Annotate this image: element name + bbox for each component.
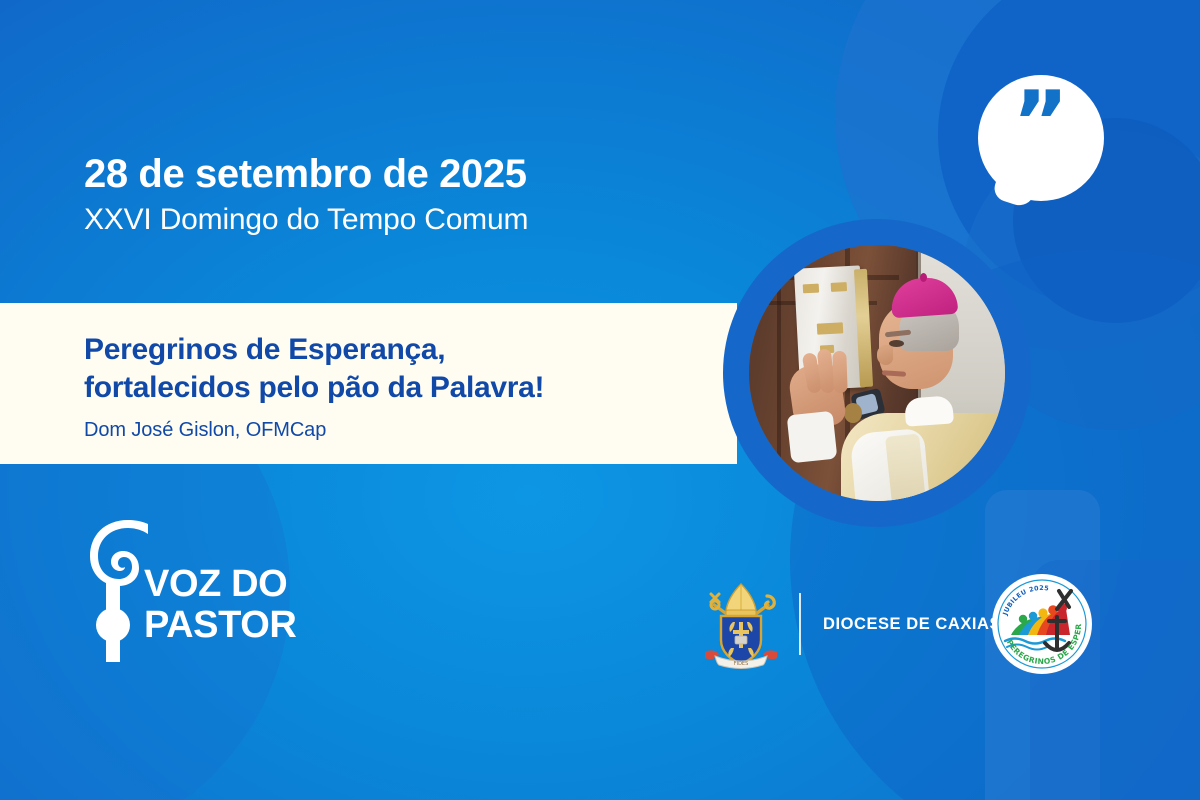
wood-grain-line	[777, 245, 781, 501]
speech-bubble-icon: ”	[978, 75, 1104, 201]
svg-text:FIDES: FIDES	[734, 661, 749, 667]
zucchetto-tip	[920, 273, 927, 282]
clerical-collar	[904, 395, 954, 426]
header-block: 28 de setembro de 2025 XXVI Domingo do T…	[84, 152, 528, 238]
quote-mark-glyph: ”	[978, 75, 1104, 201]
quote-band: Peregrinos de Esperança, fortalecidos pe…	[0, 303, 737, 464]
nose	[877, 345, 893, 365]
coat-of-arms-icon: FIDES	[697, 578, 785, 670]
brand-line-2: PASTOR	[144, 605, 296, 646]
jubilee-2025-icon[interactable]: JUBILEU 2025 PEREGRINOS DE ESPERANÇA	[991, 573, 1093, 675]
brand-line-1: VOZ DO	[144, 564, 296, 605]
bishop-photo	[749, 245, 1005, 501]
quote-inner: Peregrinos de Esperança, fortalecidos pe…	[84, 331, 544, 442]
liturgical-day-subtitle: XXVI Domingo do Tempo Comum	[84, 201, 528, 239]
quote-author: Dom José Gislon, OFMCap	[84, 419, 544, 442]
bishop-photo-frame	[723, 219, 1031, 527]
shirt-cuff	[787, 411, 838, 464]
pectoral-cross-pendant	[844, 403, 862, 423]
book-ornament	[831, 282, 847, 292]
quote-line-2: fortalecidos pelo pão da Palavra!	[84, 369, 544, 407]
poster-canvas: 28 de setembro de 2025 XXVI Domingo do T…	[0, 0, 1200, 800]
eye	[889, 340, 904, 347]
finger	[832, 351, 847, 393]
quote-line-1: Peregrinos de Esperança,	[84, 331, 544, 369]
voz-do-pastor-logo[interactable]: VOZ DO PASTOR	[84, 512, 294, 672]
voz-do-pastor-wordmark: VOZ DO PASTOR	[144, 564, 296, 646]
date-title: 28 de setembro de 2025	[84, 152, 528, 197]
book-ornament	[803, 284, 819, 294]
book-ornament	[817, 322, 844, 334]
diocese-divider	[799, 593, 801, 655]
